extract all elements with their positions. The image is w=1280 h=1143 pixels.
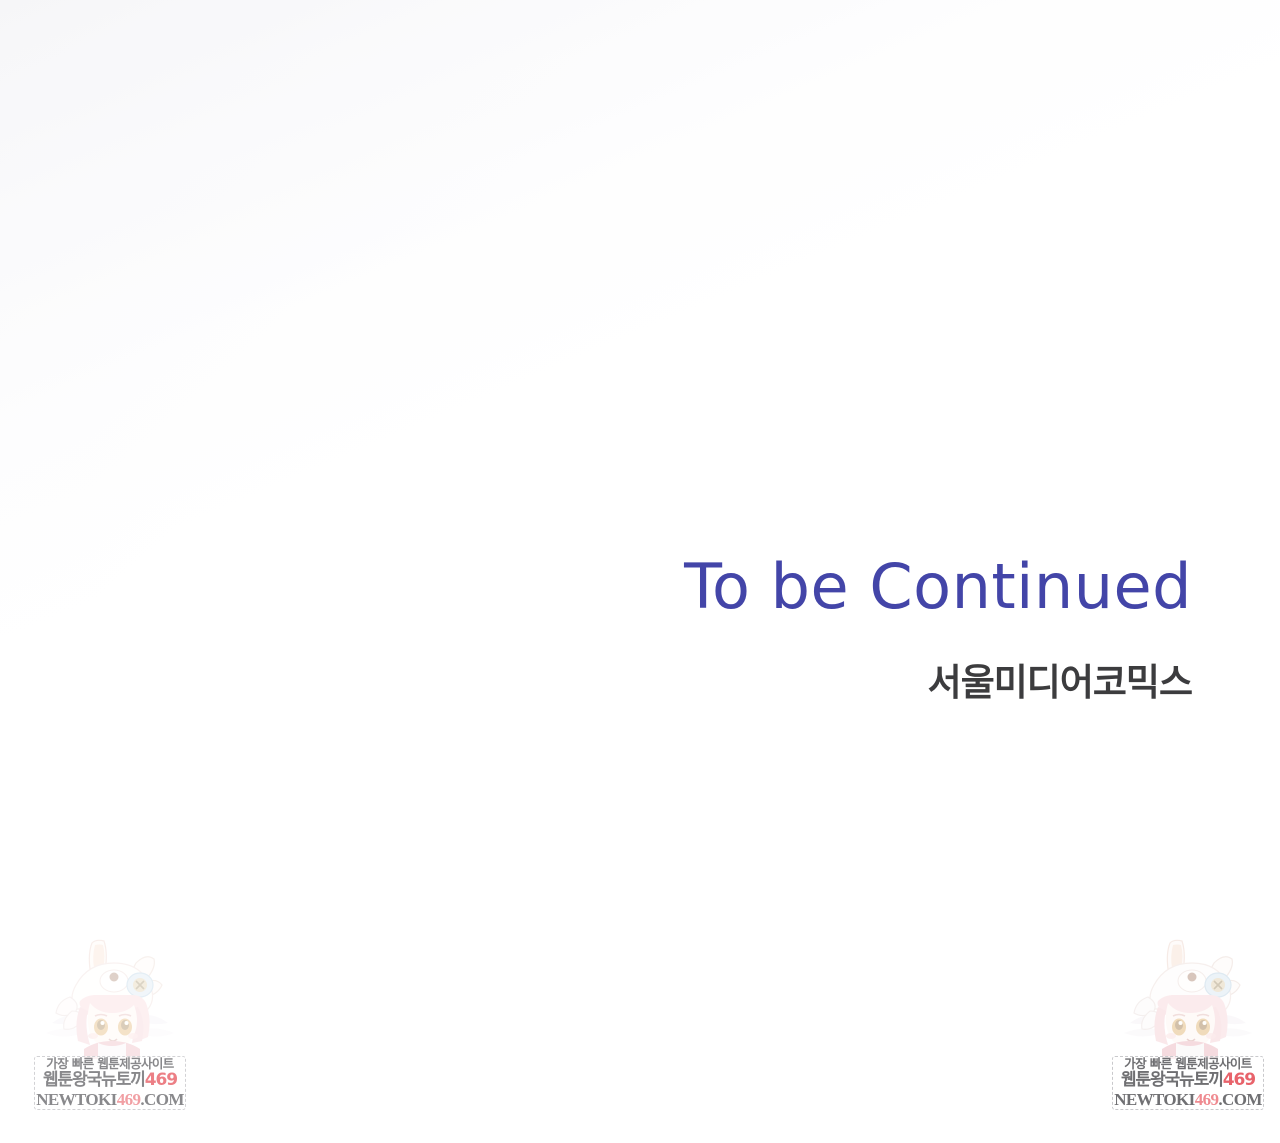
comic-page: To be Continued 서울미디어코믹스 xyxy=(0,0,1280,1143)
chibi-bunny-girl-icon xyxy=(1118,937,1258,1059)
watermark-site-name-kr-prefix: 웹툰왕국뉴토끼 xyxy=(1121,1070,1223,1090)
chibi-bunny-girl-icon xyxy=(40,937,180,1059)
end-card: To be Continued 서울미디어코믹스 xyxy=(0,0,1280,1143)
watermark-domain-number: 469 xyxy=(1195,1090,1219,1109)
to-be-continued-headline: To be Continued xyxy=(0,556,1192,618)
watermark-domain-prefix: NEWTOKI xyxy=(1114,1090,1195,1109)
watermark-domain-prefix: NEWTOKI xyxy=(36,1090,117,1109)
watermark-site-number-kr: 469 xyxy=(145,1070,177,1090)
publisher-name: 서울미디어코믹스 xyxy=(0,664,1192,701)
watermark-site-name-kr: 웹툰왕국뉴토끼469 xyxy=(1113,1071,1263,1090)
watermark-site-name-kr: 웹툰왕국뉴토끼469 xyxy=(35,1071,185,1090)
watermark-domain-number: 469 xyxy=(117,1090,141,1109)
watermark-right: 가장 빠른 웹툰제공사이트 웹툰왕국뉴토끼469 NEWTOKI469.COM xyxy=(1112,937,1262,1125)
watermark-tagline: 가장 빠른 웹툰제공사이트 xyxy=(35,1057,185,1072)
watermark-left: 가장 빠른 웹툰제공사이트 웹툰왕국뉴토끼469 NEWTOKI469.COM xyxy=(34,937,184,1125)
watermark-domain: NEWTOKI469.COM xyxy=(35,1090,185,1109)
watermark-domain: NEWTOKI469.COM xyxy=(1113,1090,1263,1109)
watermark-site-name-kr-prefix: 웹툰왕국뉴토끼 xyxy=(43,1070,145,1090)
watermark-domain-suffix: .COM xyxy=(140,1090,183,1109)
watermark-tagline: 가장 빠른 웹툰제공사이트 xyxy=(1113,1057,1263,1072)
watermark-site-number-kr: 469 xyxy=(1223,1070,1255,1090)
watermark-domain-suffix: .COM xyxy=(1218,1090,1261,1109)
watermark-text-block: 가장 빠른 웹툰제공사이트 웹툰왕국뉴토끼469 NEWTOKI469.COM xyxy=(34,1056,186,1111)
watermark-text-block: 가장 빠른 웹툰제공사이트 웹툰왕국뉴토끼469 NEWTOKI469.COM xyxy=(1112,1056,1264,1111)
